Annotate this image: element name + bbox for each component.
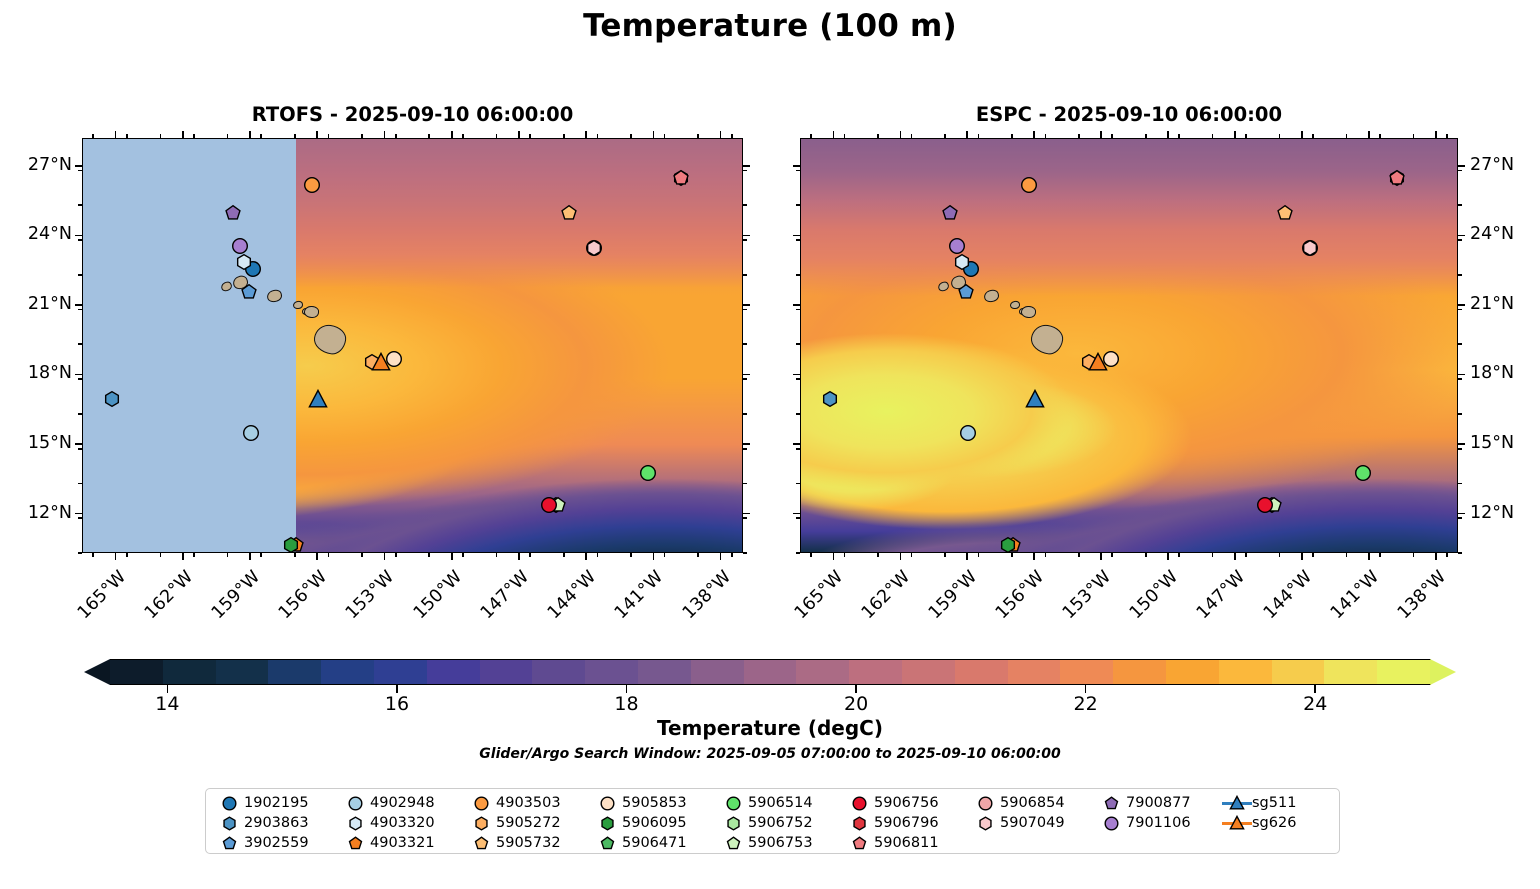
legend-item-5907049[interactable]: 5907049 — [970, 814, 1096, 832]
platform-marker-7900877[interactable] — [942, 205, 959, 222]
legend-symbol-circle-icon — [340, 796, 370, 811]
platform-marker-5905732[interactable] — [561, 205, 578, 222]
colorbar-segment — [1060, 659, 1113, 685]
colorbar-segment — [1219, 659, 1272, 685]
legend-item-4902948[interactable]: 4902948 — [340, 794, 466, 812]
colorbar — [110, 659, 1430, 685]
legend-column: 490294849033204903321 — [340, 794, 466, 852]
legend-item-5905853[interactable]: 5905853 — [592, 794, 718, 812]
platform-marker-sg511[interactable] — [1025, 389, 1045, 409]
ylabel-right-15°N: 15°N — [1470, 433, 1514, 453]
colorbar-ticks: 141618202224 — [110, 685, 1430, 695]
legend-item-5906796[interactable]: 5906796 — [844, 814, 970, 832]
legend-symbol-hexagon-icon — [466, 816, 496, 831]
ylabel-left-24°N: 24°N — [2, 224, 72, 244]
legend-label: sg626 — [1252, 815, 1296, 831]
legend-column: sg511sg626 — [1222, 794, 1362, 852]
colorbar-ticklabel-22: 22 — [1074, 693, 1098, 715]
legend-item-4903321[interactable]: 4903321 — [340, 834, 466, 852]
legend-item-7901106[interactable]: 7901106 — [1096, 814, 1222, 832]
legend-column: 590585359060955906471 — [592, 794, 718, 852]
platform-marker-5906095[interactable] — [1000, 536, 1017, 553]
ylabel-left-27°N: 27°N — [2, 155, 72, 175]
legend-symbol-triangle-icon — [1222, 795, 1252, 811]
legend-column: 590675659067965906811 — [844, 794, 970, 852]
legend-symbol-pentagon-icon — [340, 836, 370, 851]
legend-column: 590651459067525906753 — [718, 794, 844, 852]
xlabel-rtofs-162°W: 162°W — [139, 567, 197, 625]
platform-marker-2903863[interactable] — [104, 390, 121, 407]
colorbar-segment — [427, 659, 480, 685]
masked-nodata-region — [83, 139, 296, 552]
legend-symbol-circle-icon — [466, 796, 496, 811]
legend-item-5906753[interactable]: 5906753 — [718, 834, 844, 852]
colorbar-segment — [532, 659, 585, 685]
platform-marker-2903863[interactable] — [821, 390, 838, 407]
legend-item-1902195[interactable]: 1902195 — [214, 794, 340, 812]
panel-title-espc: ESPC - 2025-09-10 06:00:00 — [800, 103, 1458, 126]
ylabel-left-21°N: 21°N — [2, 294, 72, 314]
colorbar-segment — [1166, 659, 1219, 685]
legend-label: 5906514 — [748, 795, 813, 811]
platform-marker-5906811[interactable] — [673, 170, 690, 187]
colorbar-ticklabel-18: 18 — [614, 693, 638, 715]
colorbar-segment — [268, 659, 321, 685]
ylabel-left-12°N: 12°N — [2, 503, 72, 523]
colorbar-label: Temperature (degC) — [0, 716, 1540, 740]
colorbar-segment — [480, 659, 533, 685]
legend-symbol-circle-icon — [718, 796, 748, 811]
colorbar-segment — [691, 659, 744, 685]
colorbar-segment — [955, 659, 1008, 685]
legend-symbol-circle-icon — [1096, 816, 1126, 831]
legend-item-4903320[interactable]: 4903320 — [340, 814, 466, 832]
legend-label: 5906753 — [748, 835, 813, 851]
colorbar-segment — [1113, 659, 1166, 685]
legend-column: 79008777901106 — [1096, 794, 1222, 852]
ylabel-right-27°N: 27°N — [1470, 155, 1514, 175]
legend-symbol-pentagon-icon — [466, 836, 496, 851]
legend-item-5906471[interactable]: 5906471 — [592, 834, 718, 852]
legend-label: 1902195 — [244, 795, 309, 811]
legend-symbol-hexagon-icon — [214, 816, 244, 831]
colorbar-segment — [163, 659, 216, 685]
colorbar-segment — [902, 659, 955, 685]
platform-marker-5906756[interactable] — [541, 497, 558, 514]
platform-marker-4902948[interactable] — [960, 425, 977, 442]
temperature-field-espc — [801, 139, 1457, 552]
platform-marker-5907049[interactable] — [585, 239, 602, 256]
legend-symbol-circle-icon — [844, 796, 874, 811]
legend-item-4903503[interactable]: 4903503 — [466, 794, 592, 812]
legend-label: 5907049 — [1000, 815, 1065, 831]
legend-column: 190219529038633902559 — [214, 794, 340, 852]
legend-label: 5906471 — [622, 835, 687, 851]
xlabel-espc-150°W: 150°W — [1124, 567, 1182, 625]
colorbar-segment — [1377, 659, 1430, 685]
xlabel-rtofs-159°W: 159°W — [206, 567, 264, 625]
xlabel-espc-141°W: 141°W — [1325, 567, 1383, 625]
platform-marker-7901106[interactable] — [231, 237, 248, 254]
xlabel-espc-144°W: 144°W — [1258, 567, 1316, 625]
platform-marker-4902948[interactable] — [243, 425, 260, 442]
legend-symbol-hexagon-icon — [844, 816, 874, 831]
legend-symbol-pentagon-icon — [214, 836, 244, 851]
platform-marker-7901106[interactable] — [949, 237, 966, 254]
platform-marker-5906095[interactable] — [283, 536, 300, 553]
platform-marker-4903503[interactable] — [303, 177, 320, 194]
colorbar-segment — [849, 659, 902, 685]
legend-symbol-pentagon-icon — [592, 836, 622, 851]
platform-legend[interactable]: 1902195290386339025594902948490332049033… — [205, 788, 1340, 854]
colorbar-segment — [216, 659, 269, 685]
legend-label: 5906756 — [874, 795, 939, 811]
legend-symbol-hexagon-icon — [970, 816, 1000, 831]
figure-title: Temperature (100 m) — [0, 8, 1540, 44]
legend-symbol-triangle-icon — [1222, 815, 1252, 831]
colorbar-tick — [167, 685, 169, 693]
colorbar-tick — [626, 685, 628, 693]
legend-item-7900877[interactable]: 7900877 — [1096, 794, 1222, 812]
legend-label: 4903503 — [496, 795, 561, 811]
legend-symbol-pentagon-icon — [1096, 796, 1126, 811]
search-window-caption: Glider/Argo Search Window: 2025-09-05 07… — [0, 746, 1540, 762]
colorbar-extend-max — [1430, 659, 1456, 685]
legend-item-3902559[interactable]: 3902559 — [214, 834, 340, 852]
legend-item-5906095[interactable]: 5906095 — [592, 814, 718, 832]
legend-label: 5906752 — [748, 815, 813, 831]
xlabel-rtofs-141°W: 141°W — [610, 567, 668, 625]
xlabel-rtofs-165°W: 165°W — [72, 567, 130, 625]
platform-marker-4903320[interactable] — [953, 253, 970, 270]
platform-marker-5906756[interactable] — [1256, 497, 1273, 514]
map-panel-rtofs[interactable] — [82, 138, 743, 553]
xlabel-espc-162°W: 162°W — [857, 567, 915, 625]
legend-item-5906854[interactable]: 5906854 — [970, 794, 1096, 812]
colorbar-segment — [1272, 659, 1325, 685]
platform-marker-3902559[interactable] — [958, 284, 975, 301]
xlabel-rtofs-153°W: 153°W — [341, 567, 399, 625]
colorbar-segment — [110, 659, 163, 685]
legend-column: 59068545907049 — [970, 794, 1096, 852]
xlabel-rtofs-147°W: 147°W — [475, 567, 533, 625]
platform-marker-5905732[interactable] — [1277, 205, 1294, 222]
legend-label: 7901106 — [1126, 815, 1191, 831]
ylabel-right-21°N: 21°N — [1470, 294, 1514, 314]
colorbar-ticklabel-20: 20 — [844, 693, 868, 715]
legend-item-5905732[interactable]: 5905732 — [466, 834, 592, 852]
colorbar-tick — [396, 685, 398, 693]
legend-item-2903863[interactable]: 2903863 — [214, 814, 340, 832]
legend-label: 4902948 — [370, 795, 435, 811]
legend-label: 5905853 — [622, 795, 687, 811]
colorbar-tick — [1314, 685, 1316, 693]
legend-label: 5906796 — [874, 815, 939, 831]
panel-title-rtofs: RTOFS - 2025-09-10 06:00:00 — [82, 103, 743, 126]
legend-item-sg511[interactable]: sg511 — [1222, 794, 1362, 812]
colorbar-ticklabel-16: 16 — [385, 693, 409, 715]
legend-label: 5906811 — [874, 835, 939, 851]
colorbar-segment — [1008, 659, 1061, 685]
ylabel-left-15°N: 15°N — [2, 433, 72, 453]
xlabel-espc-153°W: 153°W — [1057, 567, 1115, 625]
legend-label: 4903320 — [370, 815, 435, 831]
legend-item-5906756[interactable]: 5906756 — [844, 794, 970, 812]
colorbar-segment — [374, 659, 427, 685]
map-panel-espc[interactable] — [800, 138, 1458, 553]
legend-label: 5905272 — [496, 815, 561, 831]
colorbar-segment — [321, 659, 374, 685]
platform-marker-5906514[interactable] — [639, 464, 656, 481]
legend-label: 7900877 — [1126, 795, 1191, 811]
colorbar-tick — [1085, 685, 1087, 693]
legend-label: 5906854 — [1000, 795, 1065, 811]
platform-marker-sg626[interactable] — [371, 352, 391, 372]
legend-symbol-circle-icon — [214, 796, 244, 811]
legend-symbol-pentagon-icon — [844, 836, 874, 851]
xlabel-espc-147°W: 147°W — [1191, 567, 1249, 625]
xlabel-rtofs-150°W: 150°W — [408, 567, 466, 625]
colorbar-segment — [585, 659, 638, 685]
colorbar-ticklabel-24: 24 — [1303, 693, 1327, 715]
platform-marker-7900877[interactable] — [225, 205, 242, 222]
legend-label: 2903863 — [244, 815, 309, 831]
legend-label: sg511 — [1252, 795, 1296, 811]
ylabel-right-12°N: 12°N — [1470, 503, 1514, 523]
legend-symbol-hexagon-icon — [718, 816, 748, 831]
platform-marker-5906514[interactable] — [1355, 464, 1372, 481]
legend-symbol-hexagon-icon — [340, 816, 370, 831]
platform-marker-5907049[interactable] — [1301, 239, 1318, 256]
platform-marker-5906811[interactable] — [1388, 170, 1405, 187]
legend-item-sg626[interactable]: sg626 — [1222, 814, 1362, 832]
platform-marker-sg626[interactable] — [1088, 352, 1108, 372]
xlabel-espc-138°W: 138°W — [1392, 567, 1450, 625]
legend-item-5906752[interactable]: 5906752 — [718, 814, 844, 832]
legend-column: 490350359052725905732 — [466, 794, 592, 852]
colorbar-tick — [855, 685, 857, 693]
platform-marker-4903503[interactable] — [1020, 177, 1037, 194]
ylabel-right-24°N: 24°N — [1470, 224, 1514, 244]
island-shape — [304, 305, 319, 318]
platform-marker-4903320[interactable] — [236, 253, 253, 270]
xlabel-rtofs-144°W: 144°W — [542, 567, 600, 625]
xlabel-rtofs-138°W: 138°W — [677, 567, 735, 625]
platform-marker-3902559[interactable] — [240, 284, 257, 301]
legend-grid: 1902195290386339025594902948490332049033… — [214, 794, 1362, 852]
legend-item-5906514[interactable]: 5906514 — [718, 794, 844, 812]
xlabel-espc-165°W: 165°W — [790, 567, 848, 625]
colorbar-ticklabel-14: 14 — [155, 693, 179, 715]
legend-label: 5906095 — [622, 815, 687, 831]
legend-label: 3902559 — [244, 835, 309, 851]
colorbar-segment — [638, 659, 691, 685]
legend-label: 4903321 — [370, 835, 435, 851]
xlabel-espc-159°W: 159°W — [923, 567, 981, 625]
legend-item-5906811[interactable]: 5906811 — [844, 834, 970, 852]
colorbar-extend-min — [84, 659, 110, 685]
legend-symbol-pentagon-icon — [718, 836, 748, 851]
legend-item-5905272[interactable]: 5905272 — [466, 814, 592, 832]
colorbar-segment — [1324, 659, 1377, 685]
legend-symbol-circle-icon — [592, 796, 622, 811]
colorbar-segment — [796, 659, 849, 685]
xlabel-rtofs-156°W: 156°W — [273, 567, 331, 625]
colorbar-segment — [744, 659, 797, 685]
legend-label: 5905732 — [496, 835, 561, 851]
ylabel-right-18°N: 18°N — [1470, 363, 1514, 383]
island-shape — [1021, 305, 1036, 318]
ylabel-left-18°N: 18°N — [2, 363, 72, 383]
legend-symbol-hexagon-icon — [592, 816, 622, 831]
platform-marker-sg511[interactable] — [308, 389, 328, 409]
xlabel-espc-156°W: 156°W — [990, 567, 1048, 625]
legend-symbol-circle-icon — [970, 796, 1000, 811]
